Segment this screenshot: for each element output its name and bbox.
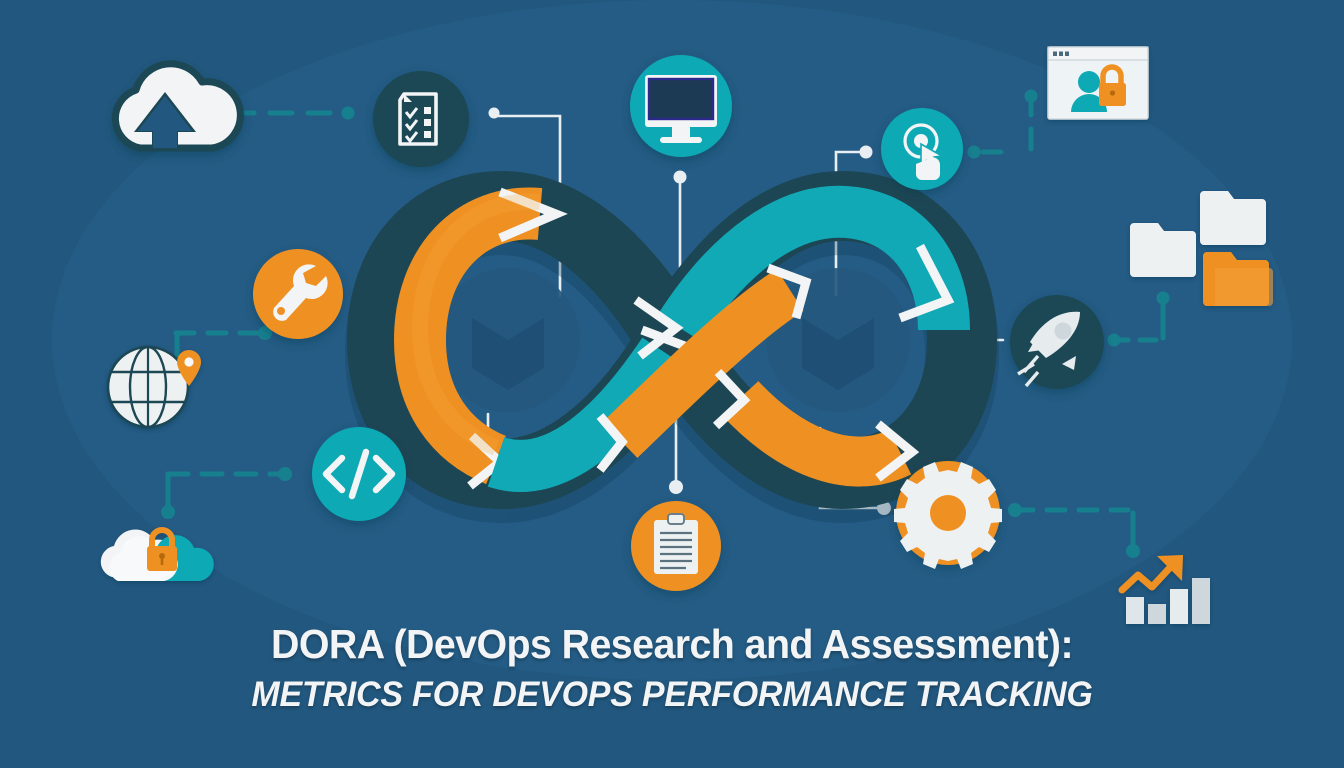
checklist-document-icon[interactable]: [373, 71, 469, 167]
clipboard-clip: [668, 514, 684, 524]
wrench-icon[interactable]: [253, 249, 343, 339]
connector-browser-to-touch: [968, 90, 1038, 159]
desktop-monitor-icon[interactable]: [630, 55, 732, 157]
folder-icon[interactable]: [1203, 252, 1273, 306]
connector-cloud-to-checklist: [228, 107, 355, 120]
connector-cloudlock-to-code: [161, 467, 292, 519]
bar-3: [1170, 589, 1188, 624]
browser-user-lock-icon[interactable]: [1048, 47, 1148, 119]
devops-infinity-loop: [382, 192, 962, 486]
cloud-upload-icon[interactable]: [115, 64, 240, 150]
cloud-lock-icon[interactable]: [101, 530, 214, 581]
checklist-circle: [373, 71, 469, 167]
folder-icon[interactable]: [1130, 223, 1196, 277]
bar-chart-trend-icon[interactable]: [1122, 555, 1210, 624]
gear-hub: [930, 495, 966, 531]
infographic-canvas: DORA (DevOps Research and Assessment): M…: [0, 0, 1344, 768]
bar-2: [1148, 604, 1166, 624]
artwork-layer: [0, 0, 1344, 768]
bar-1: [1126, 597, 1144, 624]
connector-rocket-to-folders: [1108, 292, 1170, 347]
code-brackets-icon[interactable]: [312, 427, 406, 521]
rocket-icon[interactable]: [1010, 295, 1104, 389]
globe-location-icon[interactable]: [108, 347, 201, 427]
clipboard-icon[interactable]: [631, 501, 721, 591]
touch-pointer-icon[interactable]: [881, 108, 963, 190]
bar-4: [1192, 578, 1210, 624]
monitor-screen: [649, 79, 713, 119]
connector-gear-to-chart: [1008, 503, 1140, 558]
connector-clipboard-to-loop: [669, 420, 683, 494]
folder-icon[interactable]: [1200, 191, 1266, 245]
user-head: [1078, 71, 1100, 93]
